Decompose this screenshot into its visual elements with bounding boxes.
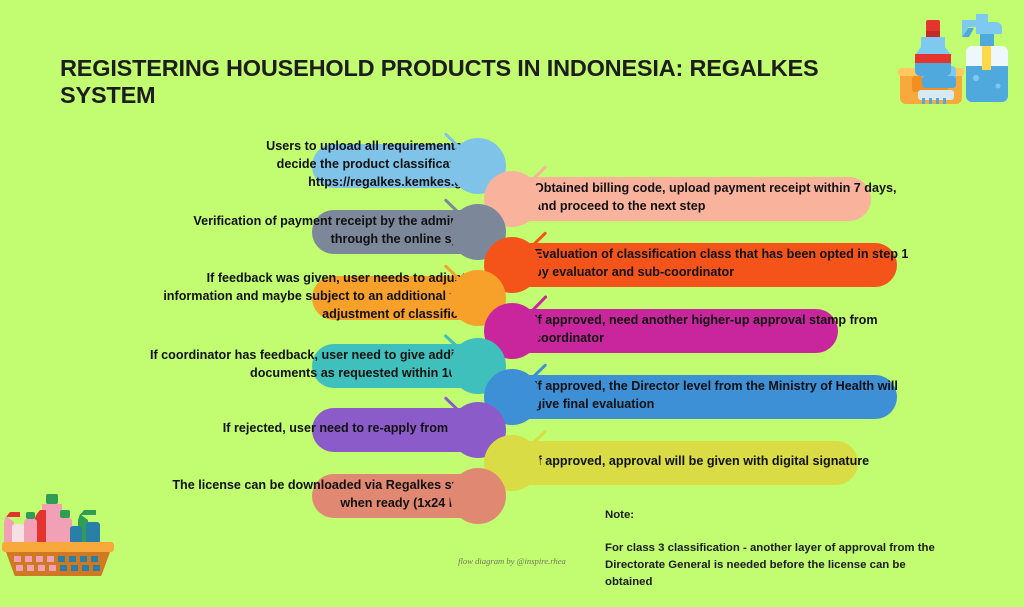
- step-number-11: 11: [471, 489, 485, 503]
- step-text-4: Evaluation of classification class that …: [534, 246, 1010, 282]
- step-text-2: Obtained billing code, upload payment re…: [534, 180, 1010, 216]
- step-number-6: 6: [508, 324, 516, 339]
- step-text-1: Users to upload all requirements and dec…: [40, 138, 488, 192]
- step-text-11: The license can be downloaded via Regalk…: [40, 477, 488, 513]
- step-text-6: If approved, need another higher-up appr…: [534, 312, 1010, 348]
- step-number-5: 5: [474, 291, 482, 306]
- step-text-3: Verification of payment receipt by the a…: [40, 213, 488, 249]
- step-text-9: If rejected, user need to re-apply from …: [40, 420, 488, 438]
- step-number-9: 9: [474, 423, 482, 438]
- step-number-4: 4: [508, 258, 516, 273]
- credit-text: flow diagram by @inspire.rhea: [0, 556, 1024, 566]
- step-number-1: 1: [474, 159, 482, 174]
- step-circle-11[interactable]: 11: [458, 476, 498, 516]
- note-block: Note: For class 3 classification - anoth…: [605, 490, 965, 607]
- cleaning-products-illustration: [890, 6, 1016, 110]
- step-text-7: If coordinator has feedback, user need t…: [40, 347, 488, 383]
- page-title: REGISTERING HOUSEHOLD PRODUCTS IN INDONE…: [60, 55, 880, 109]
- step-circle-6[interactable]: 6: [492, 311, 532, 351]
- step-number-10: 10: [504, 456, 519, 470]
- step-number-3: 3: [474, 225, 482, 240]
- step-number-7: 7: [474, 359, 482, 374]
- step-number-8: 8: [508, 390, 516, 405]
- step-text-8: If approved, the Director level from the…: [534, 378, 1010, 414]
- step-text-10: If approved, approval will be given with…: [534, 453, 1010, 471]
- step-number-2: 2: [508, 192, 516, 207]
- infographic-canvas: REGISTERING HOUSEHOLD PRODUCTS IN INDONE…: [0, 0, 1024, 576]
- step-text-5: If feedback was given, user needs to adj…: [40, 270, 488, 324]
- note-heading: Note:: [605, 507, 965, 524]
